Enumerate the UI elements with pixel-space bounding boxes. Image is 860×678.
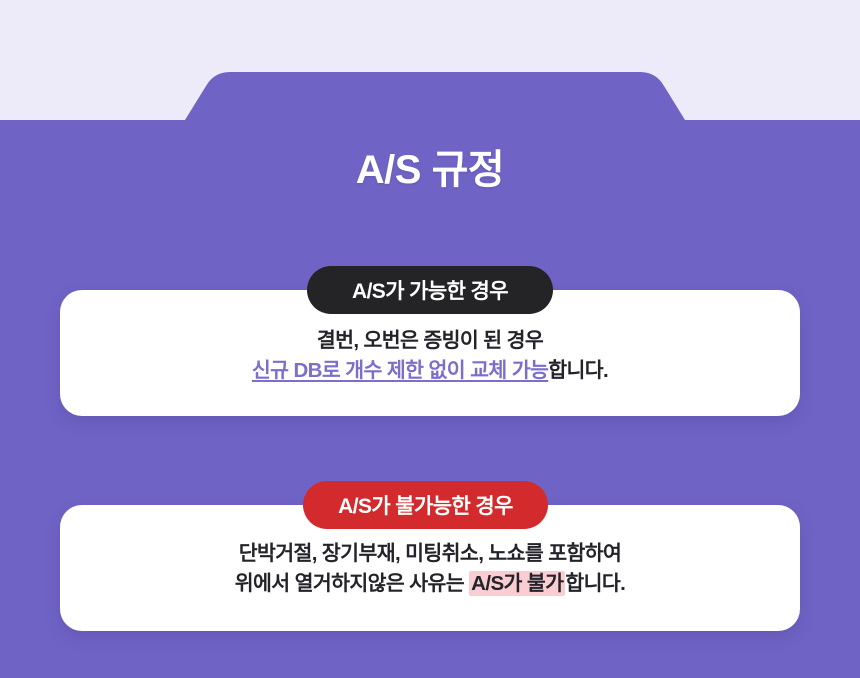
badge-as-unavailable: A/S가 불가능한 경우 [303,481,548,529]
card-unavailable-line-2: 위에서 열거하지않은 사유는 A/S가 불가합니다. [60,569,800,599]
badge-as-available-label: A/S가 가능한 경우 [352,275,508,305]
unavailable-line-2-tail: 합니다. [565,572,625,595]
card-available-text: 결번, 오번은 증빙이 된 경우 신규 DB로 개수 제한 없이 교체 가능합니… [60,326,800,387]
available-emphasis-link[interactable]: 신규 DB로 개수 제한 없이 교체 가능 [252,359,548,382]
unavailable-line-2-lead: 위에서 열거하지않은 사유는 [235,572,469,595]
card-available-line-2: 신규 DB로 개수 제한 없이 교체 가능합니다. [60,356,800,386]
folder-container: A/S 규정 결번, 오번은 증빙이 된 경우 신규 DB로 개수 제한 없이 … [0,0,860,678]
badge-as-unavailable-label: A/S가 불가능한 경우 [338,490,513,520]
card-unavailable-text: 단박거절, 장기부재, 미팅취소, 노쇼를 포함하여 위에서 열거하지않은 사유… [60,539,800,600]
page-title: A/S 규정 [0,146,860,194]
available-line-2-tail: 합니다. [548,359,608,382]
card-available-line-1: 결번, 오번은 증빙이 된 경우 [60,326,800,356]
card-unavailable-line-1: 단박거절, 장기부재, 미팅취소, 노쇼를 포함하여 [60,539,800,569]
badge-as-available: A/S가 가능한 경우 [307,266,553,314]
unavailable-emphasis-highlight: A/S가 불가 [469,571,565,596]
